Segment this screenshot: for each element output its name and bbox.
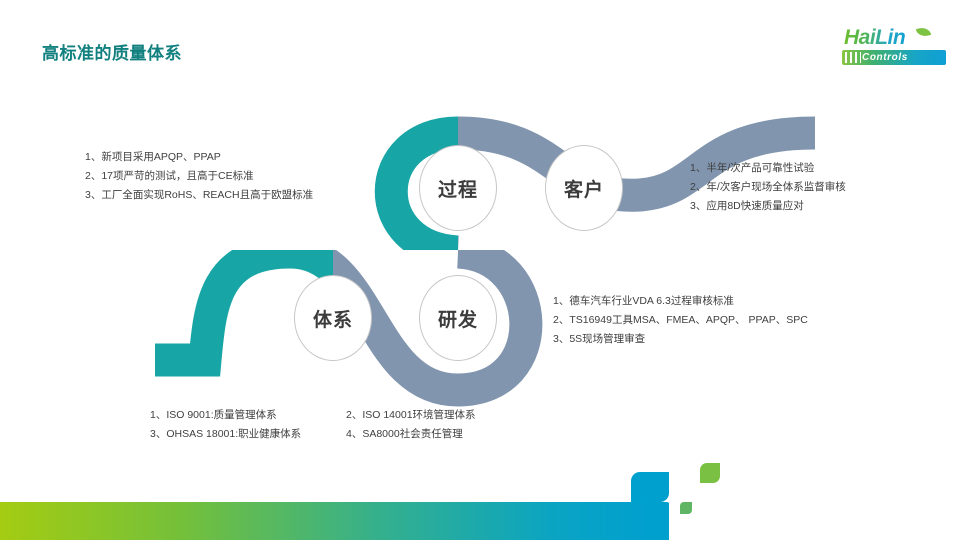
text-line: 2、17项严苛的测试，且高于CE标准 [85,167,313,186]
node-process-label: 过程 [438,175,478,202]
serpentine-ribbon [0,0,960,540]
text-block-customer: 1、半年/次产品可靠性试验 2、年/次客户现场全体系监督审核 3、应用8D快速质… [690,159,846,216]
text-line: 3、5S现场管理审查 [553,330,808,349]
node-rd-label: 研发 [438,305,478,332]
node-system-label: 体系 [313,305,353,332]
node-rd[interactable]: 研发 [419,275,497,361]
text-line: 2、TS16949工具MSA、FMEA、APQP、 PPAP、SPC [553,311,808,330]
text-line: 1、ISO 9001:质量管理体系 [150,406,346,425]
text-line: 1、半年/次产品可靠性试验 [690,159,846,178]
node-customer-label: 客户 [564,175,604,202]
decoration-square-large [700,463,720,483]
text-block-rd: 1、德车汽车行业VDA 6.3过程审核标准 2、TS16949工具MSA、FME… [553,292,808,349]
text-block-system: 1、ISO 9001:质量管理体系 2、ISO 14001环境管理体系 3、OH… [150,406,546,444]
node-system[interactable]: 体系 [294,275,372,361]
slide-canvas: 高标准的质量体系 HaiLin Controls [0,0,960,540]
text-block-process: 1、新项目采用APQP、PPAP 2、17项严苛的测试，且高于CE标准 3、工厂… [85,148,313,205]
text-line: 1、新项目采用APQP、PPAP [85,148,313,167]
text-line: 4、SA8000社会责任管理 [346,425,546,444]
node-customer[interactable]: 客户 [545,145,623,231]
text-line: 3、OHSAS 18001:职业健康体系 [150,425,346,444]
text-line: 2、年/次客户现场全体系监督审核 [690,178,846,197]
text-line: 2、ISO 14001环境管理体系 [346,406,546,425]
text-line: 3、应用8D快速质量应对 [690,197,846,216]
text-row: 3、OHSAS 18001:职业健康体系 4、SA8000社会责任管理 [150,425,546,444]
decoration-square-small [680,502,692,514]
text-row: 1、ISO 9001:质量管理体系 2、ISO 14001环境管理体系 [150,406,546,425]
text-line: 3、工厂全面实现RoHS、REACH且高于欧盟标准 [85,186,313,205]
text-line: 1、德车汽车行业VDA 6.3过程审核标准 [553,292,808,311]
footer-step-block [631,472,669,502]
node-process[interactable]: 过程 [419,145,497,231]
footer-step-block-lower [651,502,669,540]
footer-gradient-bar [0,502,651,540]
